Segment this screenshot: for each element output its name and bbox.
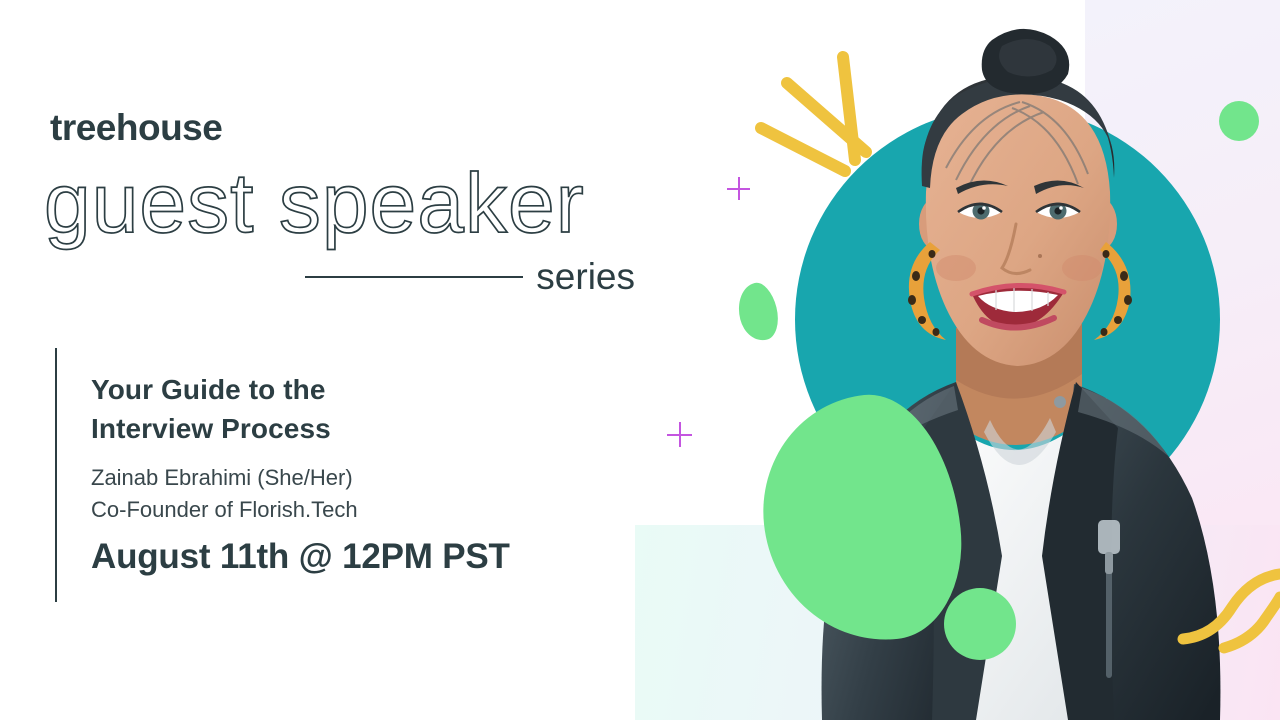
speaker-name: Zainab Ebrahimi (She/Her): [91, 462, 611, 494]
headline-outline: guest speaker: [44, 160, 684, 250]
series-divider-rule: [305, 276, 523, 278]
plus-mark-icon-2: [667, 422, 692, 447]
green-blob-small: [733, 279, 784, 344]
series-row: series: [305, 258, 635, 295]
green-circle-bottom: [944, 588, 1016, 660]
guest-speaker-promo-slide: treehouse guest speaker series Your Guid…: [0, 0, 1280, 720]
plus-mark-icon-1: [727, 177, 750, 200]
session-title-line-2: Interview Process: [91, 410, 611, 449]
speaker-block: Zainab Ebrahimi (She/Her) Co-Founder of …: [91, 462, 611, 526]
series-label: series: [536, 258, 635, 295]
svg-text:guest speaker: guest speaker: [44, 160, 585, 250]
session-title-line-1: Your Guide to the: [91, 371, 611, 410]
detail-accent-rule: [55, 348, 57, 602]
brand-name: treehouse: [50, 109, 222, 146]
event-date-time: August 11th @ 12PM PST: [91, 537, 651, 577]
session-title: Your Guide to the Interview Process: [91, 371, 611, 448]
green-circle-top-right: [1219, 101, 1259, 141]
speaker-role: Co-Founder of Florish.Tech: [91, 494, 611, 526]
